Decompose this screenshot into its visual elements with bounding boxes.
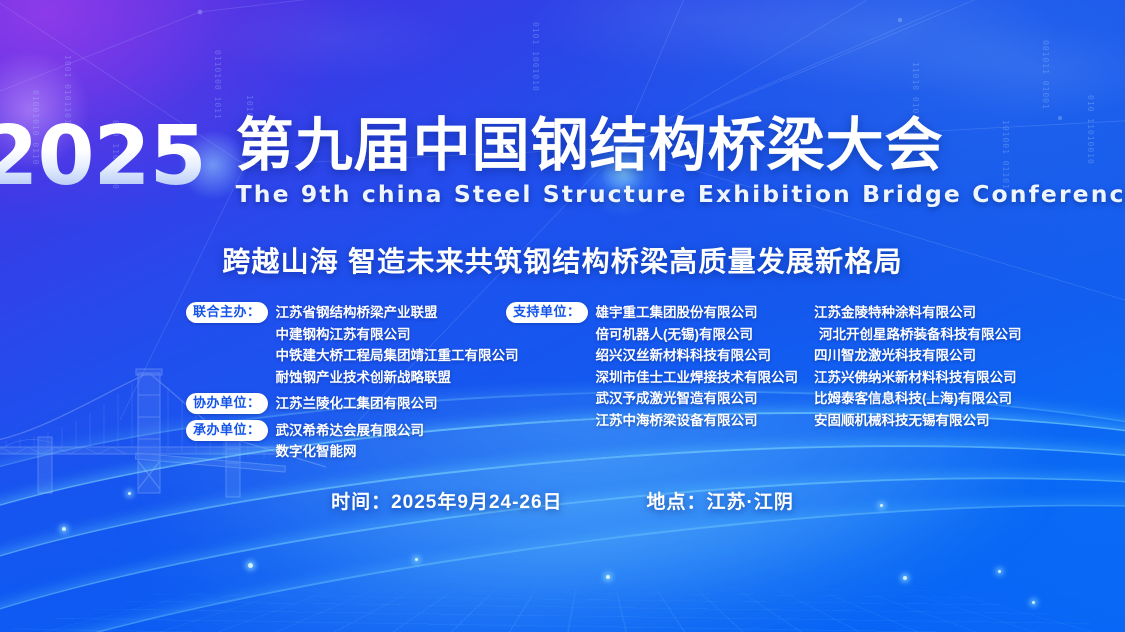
co-organizer-label: 协办单位： — [186, 393, 268, 414]
org-name: 江苏省钢结构桥梁产业联盟 — [276, 302, 519, 324]
organizers-column-right: 江苏金陵特种涂料有限公司 河北开创星路桥装备科技有限公司 四川智龙激光科技有限公… — [806, 302, 1026, 431]
organizers-column-middle: 支持单位： 雄宇重工集团股份有限公司 倍可机器人(无锡)有限公司 绍兴汉丝新材料… — [506, 302, 806, 436]
co-organizer-group: 协办单位： 江苏兰陵化工集团有限公司 — [186, 393, 506, 415]
organizers-column-left: 联合主办： 江苏省钢结构桥梁产业联盟 中建钢构江苏有限公司 中铁建大桥工程局集团… — [186, 302, 506, 468]
org-name: 中铁建大桥工程局集团靖江重工有限公司 — [276, 345, 519, 367]
co-host-group: 联合主办： 江苏省钢结构桥梁产业联盟 中建钢构江苏有限公司 中铁建大桥工程局集团… — [186, 302, 506, 388]
org-name: 数字化智能网 — [276, 441, 425, 463]
org-name: 中建钢构江苏有限公司 — [276, 324, 519, 346]
footer-info: 时间：2025年9月24-26日 地点：江苏·江阴 — [0, 487, 1125, 514]
org-name: 武汉予成激光智造有限公司 — [596, 388, 799, 410]
co-host-label: 联合主办： — [186, 302, 268, 323]
year-text: 2025 — [0, 118, 222, 197]
slogan-text: 跨越山海 智造未来共筑钢结构桥梁高质量发展新格局 — [0, 240, 1125, 280]
org-name: 武汉希希达会展有限公司 — [276, 420, 425, 442]
org-name: 江苏中海桥梁设备有限公司 — [596, 410, 799, 432]
title-row: 2025 第九届中国钢结构桥梁大会 The 9th china Steel St… — [0, 116, 1125, 214]
main-title-cn: 第九届中国钢结构桥梁大会 — [236, 116, 1125, 176]
conference-banner: 01001010 0110 1001 0101101 010 11010010 … — [0, 0, 1125, 632]
supporters-label: 支持单位： — [506, 302, 588, 323]
org-name: 江苏金陵特种涂料有限公司 — [814, 302, 1026, 324]
org-name: 江苏兰陵化工集团有限公司 — [276, 393, 438, 415]
org-name: 雄宇重工集团股份有限公司 — [596, 302, 799, 324]
undertaker-group: 承办单位： 武汉希希达会展有限公司 数字化智能网 — [186, 420, 506, 463]
org-name: 安固顺机械科技无锡有限公司 — [814, 410, 1026, 432]
org-name: 耐蚀钢产业技术创新战略联盟 — [276, 367, 519, 389]
main-title-en: The 9th china Steel Structure Exhibition… — [236, 180, 1125, 208]
event-date: 时间：2025年9月24-26日 — [331, 487, 562, 514]
org-name: 江苏兴佛纳米新材料科技有限公司 — [814, 367, 1026, 389]
org-name: 倍可机器人(无锡)有限公司 — [596, 324, 799, 346]
org-name: 绍兴汉丝新材料科技有限公司 — [596, 345, 799, 367]
org-name: 四川智龙激光科技有限公司 — [814, 345, 1026, 367]
org-name: 河北开创星路桥装备科技有限公司 — [814, 324, 1026, 346]
org-name: 深圳市佳士工业焊接技术有限公司 — [596, 367, 799, 389]
organizers-block: 联合主办： 江苏省钢结构桥梁产业联盟 中建钢构江苏有限公司 中铁建大桥工程局集团… — [186, 302, 1026, 468]
undertaker-label: 承办单位： — [186, 420, 268, 441]
event-location: 地点：江苏·江阴 — [647, 487, 794, 514]
supporters-group: 支持单位： 雄宇重工集团股份有限公司 倍可机器人(无锡)有限公司 绍兴汉丝新材料… — [506, 302, 806, 431]
org-name: 比姆泰客信息科技(上海)有限公司 — [814, 388, 1026, 410]
